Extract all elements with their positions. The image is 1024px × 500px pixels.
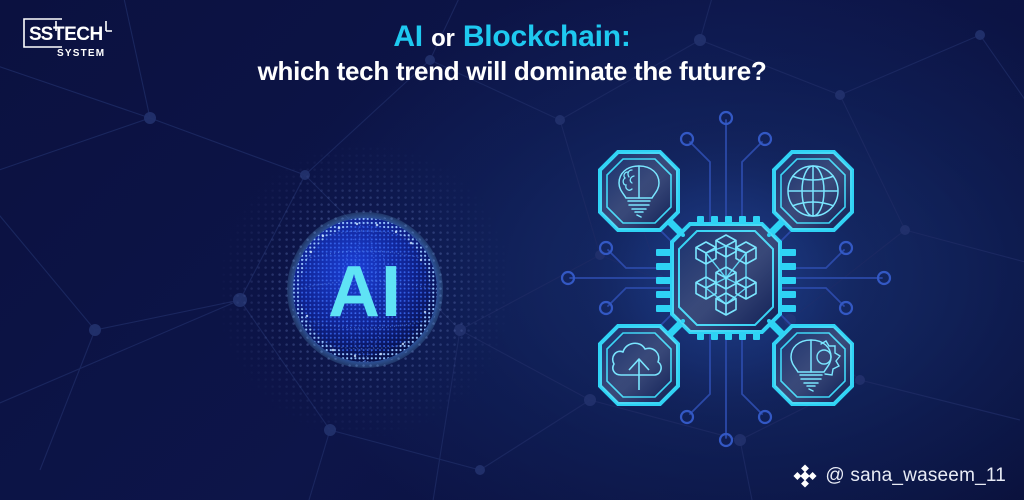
headline-line-2: which tech trend will dominate the futur…	[0, 58, 1024, 85]
central-chip	[672, 224, 780, 332]
headline-conjunction: or	[431, 25, 455, 52]
blockchain-chip-illustration	[556, 108, 896, 448]
watermark-handle: @ sana_waseem_11	[825, 465, 1006, 487]
ai-label: AI	[328, 252, 402, 332]
node-bulb-gear[interactable]	[774, 326, 852, 404]
node-globe[interactable]	[774, 152, 852, 230]
banner-canvas: SS TECH SYSTEM AI or Blockchain: which t…	[0, 0, 1024, 500]
watermark: @ sana_waseem_11	[793, 464, 1006, 488]
ai-globe-illustration: AI	[215, 140, 515, 440]
headline-line-1: AI or Blockchain:	[0, 22, 1024, 53]
globe-icon	[788, 166, 838, 216]
headline-word-blockchain: Blockchain:	[463, 20, 631, 53]
diamond-cluster-icon	[793, 464, 817, 488]
headline-word-ai: AI	[393, 20, 423, 53]
headline-block: AI or Blockchain: which tech trend will …	[0, 22, 1024, 84]
node-brain-bulb[interactable]	[600, 152, 678, 230]
node-cloud-upload[interactable]	[600, 326, 678, 404]
